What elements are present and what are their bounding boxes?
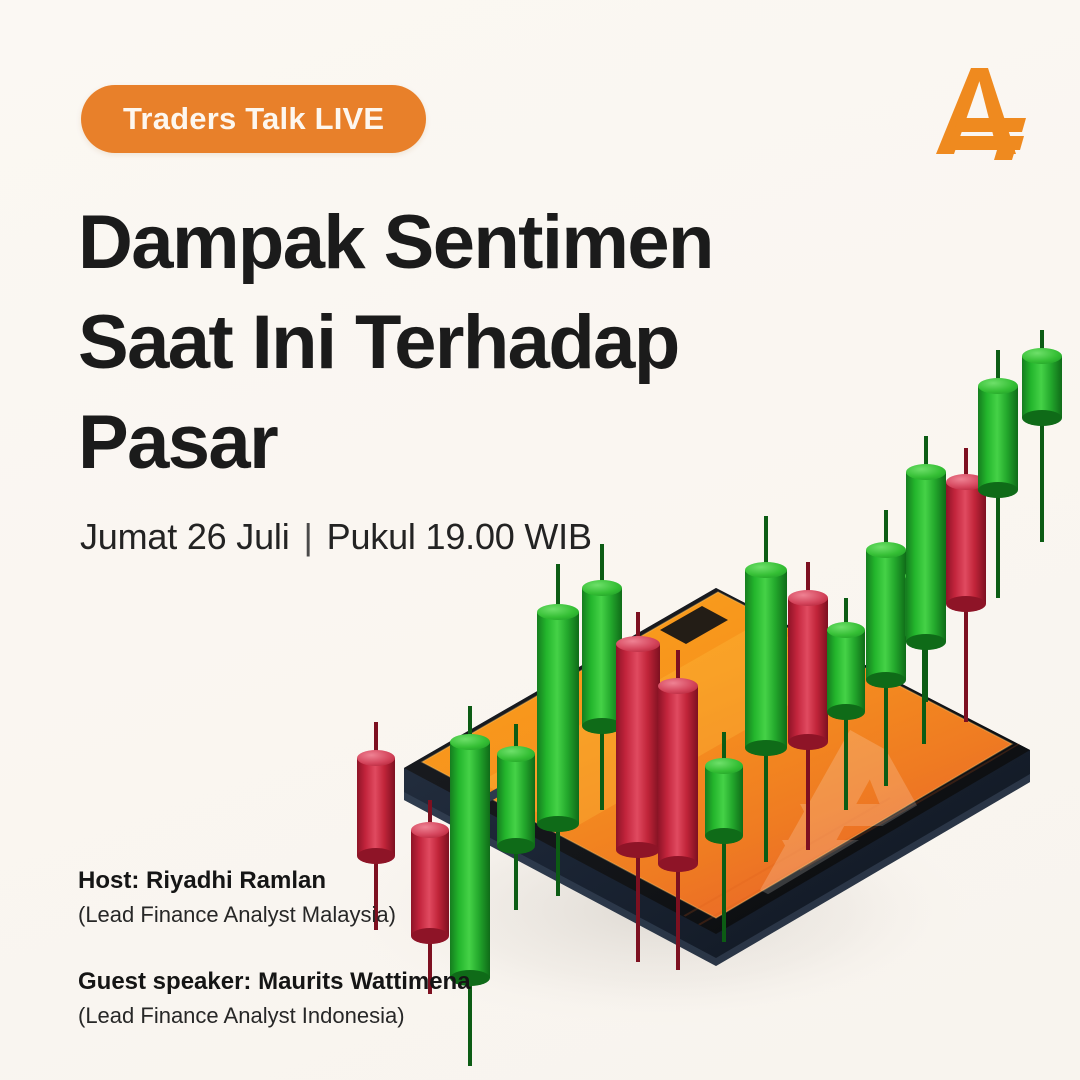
guest-credit: Guest speaker: Maurits Wattimena (Lead F… — [78, 967, 471, 1030]
guest-name: Guest speaker: Maurits Wattimena — [78, 967, 471, 998]
guest-role: (Lead Finance Analyst Indonesia) — [78, 1001, 471, 1031]
host-name: Host: Riyadhi Ramlan — [78, 866, 471, 897]
event-datetime: Jumat 26 Juli | Pukul 19.00 WIB — [80, 516, 592, 558]
event-date: Jumat 26 Juli — [80, 516, 290, 558]
live-badge: Traders Talk LIVE — [81, 85, 426, 153]
poster-canvas: Traders Talk LIVE Dampak Sentimen Saat I… — [0, 0, 1080, 1080]
candle-bull — [1022, 330, 1062, 542]
live-badge-label: Traders Talk LIVE — [123, 101, 384, 137]
headline-line-1: Dampak Sentimen — [78, 193, 798, 293]
candle-bull — [906, 436, 946, 702]
a-monogram-icon — [930, 62, 1032, 160]
host-role: (Lead Finance Analyst Malaysia) — [78, 900, 471, 930]
brand-logo — [930, 62, 1032, 160]
speaker-credits: Host: Riyadhi Ramlan (Lead Finance Analy… — [78, 866, 471, 1031]
datetime-separator: | — [304, 516, 313, 558]
event-time: Pukul 19.00 WIB — [327, 516, 592, 558]
host-credit: Host: Riyadhi Ramlan (Lead Finance Analy… — [78, 866, 471, 929]
